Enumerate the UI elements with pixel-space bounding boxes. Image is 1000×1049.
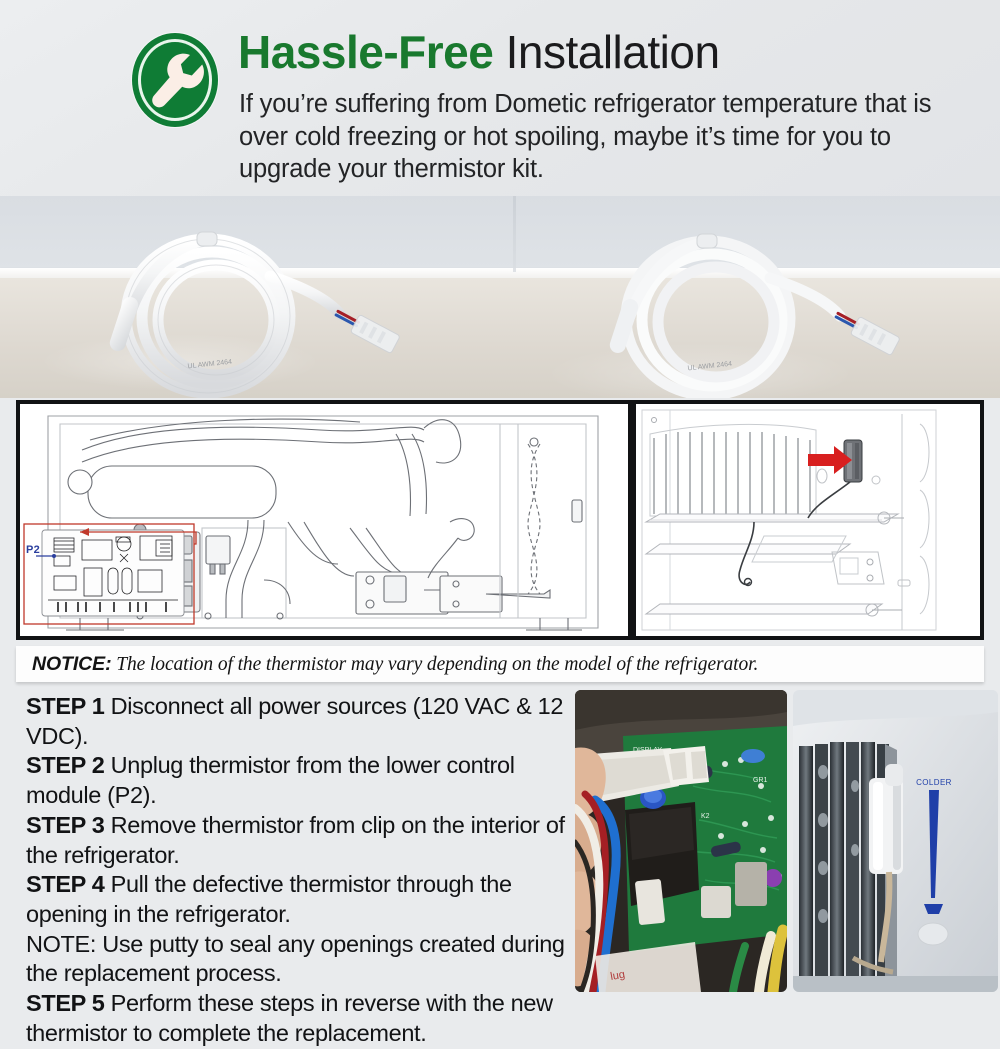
note-item: NOTE: Use putty to seal any openings cre… bbox=[26, 930, 574, 989]
diagram-panel-group: P2 bbox=[16, 400, 984, 640]
step-label: STEP 1 bbox=[26, 693, 104, 719]
notice-body: The location of the thermistor may vary … bbox=[116, 654, 758, 675]
colder-label: COLDER bbox=[916, 778, 952, 787]
svg-text:UL AWM 2464: UL AWM 2464 bbox=[687, 361, 732, 373]
thermistor-cable-1: UL AWM 2464 bbox=[60, 196, 560, 398]
product-photo: UL AWM 2464 UL AWM 2464 bbox=[0, 196, 1000, 398]
panel-divider bbox=[628, 404, 636, 636]
step-item: STEP 1 Disconnect all power sources (120… bbox=[26, 692, 574, 751]
step-label: STEP 4 bbox=[26, 871, 104, 897]
svg-text:K2: K2 bbox=[701, 813, 710, 820]
cooling-unit-line-drawing: P2 bbox=[20, 404, 628, 636]
svg-text:UL AWM 2464: UL AWM 2464 bbox=[187, 359, 232, 371]
page-title-highlight: Hassle-Free bbox=[238, 26, 493, 78]
step-item: STEP 2 Unplug thermistor from the lower … bbox=[26, 751, 574, 810]
p2-callout-label: P2 bbox=[26, 544, 40, 556]
header-subtitle: If you’re suffering from Dometic refrige… bbox=[239, 88, 954, 186]
svg-text:GR1: GR1 bbox=[753, 777, 768, 784]
header-banner: Hassle-Free Installation If you’re suffe… bbox=[0, 0, 1000, 196]
thermistor-clip-photo: COLDER bbox=[793, 690, 998, 992]
notice-prefix: NOTICE: bbox=[32, 653, 111, 675]
thermistor-cable-2: UL AWM 2464 bbox=[500, 196, 1000, 398]
note-label: NOTE: bbox=[26, 931, 96, 957]
step-item: STEP 3 Remove thermistor from clip on th… bbox=[26, 811, 574, 870]
step-text: Perform these steps in reverse with the … bbox=[26, 990, 553, 1046]
control-module-highlight bbox=[24, 524, 196, 624]
svg-text:lug: lug bbox=[609, 969, 626, 983]
thermistor-clip-body bbox=[869, 764, 903, 874]
notice-bar: NOTICE: The location of the thermistor m… bbox=[16, 646, 984, 682]
note-text: Use putty to seal any openings created d… bbox=[26, 931, 565, 987]
page-title: Hassle-Free Installation bbox=[238, 28, 720, 78]
step-label: STEP 2 bbox=[26, 752, 104, 778]
step-label: STEP 3 bbox=[26, 812, 104, 838]
control-board-photo: DISPLAY P2 GR1 K2 bbox=[575, 690, 787, 992]
step-text: Disconnect all power sources (120 VAC & … bbox=[26, 693, 563, 749]
step-item: STEP 5 Perform these steps in reverse wi… bbox=[26, 989, 574, 1048]
steps-list: STEP 1 Disconnect all power sources (120… bbox=[26, 692, 574, 1049]
wrench-in-circle-icon bbox=[128, 29, 222, 132]
page-title-rest: Installation bbox=[493, 26, 719, 78]
step-label: STEP 5 bbox=[26, 990, 104, 1016]
step-item: STEP 4 Pull the defective thermistor thr… bbox=[26, 870, 574, 929]
refrigerator-interior-line-drawing bbox=[636, 404, 980, 636]
step-text: Remove thermistor from clip on the inter… bbox=[26, 812, 565, 868]
